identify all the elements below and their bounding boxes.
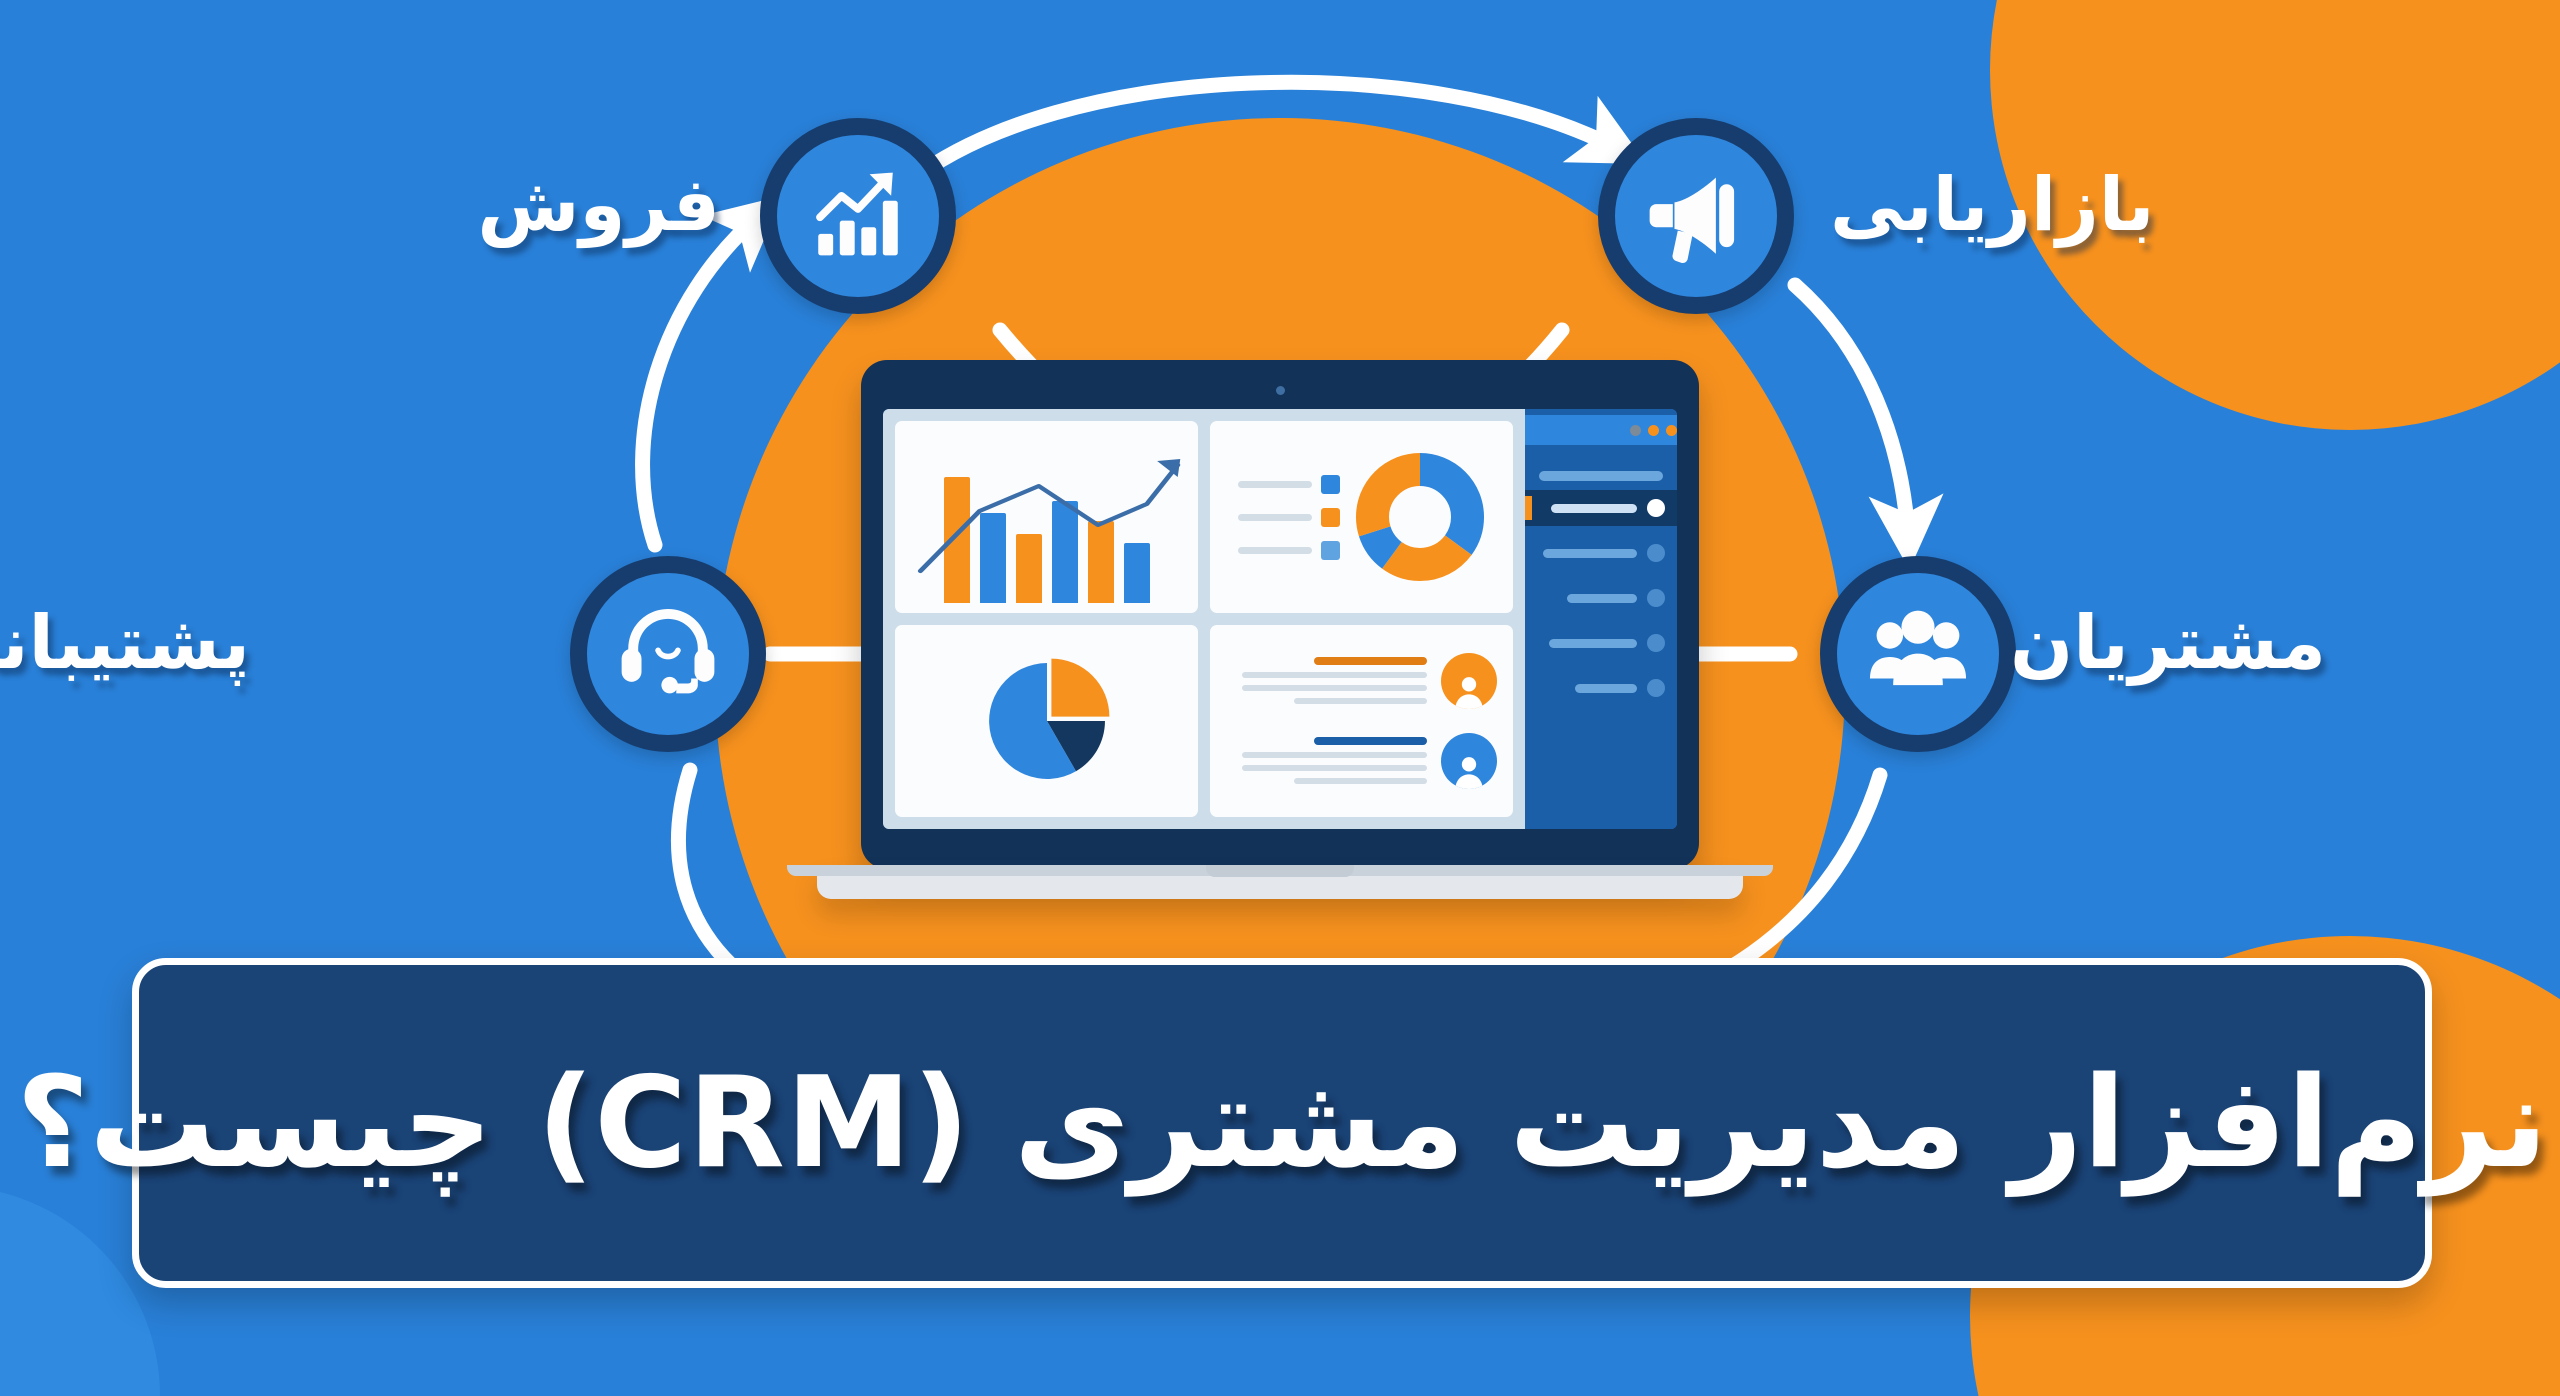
- sidebar-item-icon: [1647, 589, 1665, 607]
- contact-line: [1242, 685, 1427, 691]
- arrow-marketing-to-customers: [1795, 285, 1908, 540]
- card-pie-chart[interactable]: [895, 625, 1198, 817]
- avatar: [1441, 653, 1497, 709]
- contact-line: [1242, 752, 1427, 758]
- sidebar-item-label: [1567, 594, 1637, 603]
- badge-sales[interactable]: [760, 118, 956, 314]
- avatar: [1441, 733, 1497, 789]
- badge-support[interactable]: [570, 556, 766, 752]
- sidebar-item-deals[interactable]: [1525, 580, 1677, 616]
- contact-name: [1314, 657, 1427, 665]
- bar-2: [1088, 521, 1114, 604]
- label-customers: مشتریان: [2010, 606, 2326, 680]
- sidebar-item-label: [1551, 504, 1637, 513]
- sidebar-item-settings[interactable]: [1525, 670, 1677, 706]
- contact-line: [1294, 698, 1427, 704]
- legend-swatch: [1321, 541, 1340, 560]
- bar-3: [1052, 501, 1078, 603]
- infographic-canvas: فروش بازاریابی مشتریان پشتیبانی: [0, 0, 2560, 1396]
- pie-chart: [978, 652, 1116, 790]
- dashboard-sidebar: [1525, 409, 1677, 829]
- laptop-base: [817, 865, 1743, 899]
- sidebar-header-placeholder: [1539, 471, 1663, 481]
- card-contact-list[interactable]: [1210, 625, 1513, 817]
- window-titlebar: [1525, 415, 1677, 445]
- legend-swatch: [1321, 475, 1340, 494]
- legend-label: [1238, 514, 1312, 521]
- window-dot-2[interactable]: [1648, 425, 1659, 436]
- label-support: پشتیبانی: [0, 606, 250, 680]
- contact-line: [1242, 672, 1427, 678]
- contact-details: [1226, 653, 1427, 704]
- label-marketing: بازاریابی: [1830, 168, 2154, 242]
- badge-customers[interactable]: [1820, 556, 2016, 752]
- title-banner: نرم‌افزار مدیریت مشتری (CRM) چیست؟: [132, 958, 2432, 1288]
- legend-swatch: [1321, 508, 1340, 527]
- window-dot-1[interactable]: [1666, 425, 1677, 436]
- sidebar-item-icon: [1647, 499, 1665, 517]
- arrow-sales-to-marketing: [905, 82, 1620, 185]
- laptop-base-lip: [787, 865, 1773, 876]
- bar-5: [980, 513, 1006, 603]
- sidebar-item-label: [1575, 684, 1637, 693]
- label-sales: فروش: [477, 168, 720, 242]
- sidebar-item-icon: [1647, 544, 1665, 562]
- legend-item: [1238, 508, 1340, 527]
- people-group-icon: [1865, 599, 1971, 709]
- contact-details: [1226, 733, 1427, 784]
- window-dot-3[interactable]: [1630, 425, 1641, 436]
- sidebar-item-icon: [1647, 634, 1665, 652]
- sidebar-item-contacts[interactable]: [1525, 535, 1677, 571]
- contact-line: [1294, 778, 1427, 784]
- page-title: نرم‌افزار مدیریت مشتری (CRM) چیست؟: [16, 1060, 2548, 1186]
- laptop-screen: [883, 409, 1677, 829]
- badge-marketing[interactable]: [1598, 118, 1794, 314]
- contact-line: [1242, 765, 1427, 771]
- sidebar-item-label: [1549, 639, 1637, 648]
- sidebar-item-dashboard[interactable]: [1525, 490, 1677, 526]
- megaphone-icon: [1643, 161, 1749, 271]
- bar-chart: [905, 453, 1188, 603]
- webcam-dot-icon: [1276, 386, 1285, 395]
- card-donut-chart[interactable]: [1210, 421, 1513, 613]
- laptop-lid: [861, 360, 1699, 869]
- bar-6: [944, 477, 970, 603]
- sidebar-item-icon: [1647, 679, 1665, 697]
- legend-label: [1238, 547, 1312, 554]
- sidebar-item-label: [1543, 549, 1637, 558]
- donut-legend: [1238, 475, 1340, 560]
- list-item[interactable]: [1226, 653, 1497, 709]
- sidebar-item-reports[interactable]: [1525, 625, 1677, 661]
- donut-chart: [1354, 451, 1486, 583]
- bar-1: [1124, 543, 1150, 603]
- legend-item: [1238, 475, 1340, 494]
- list-item[interactable]: [1226, 733, 1497, 789]
- laptop-illustration: [861, 360, 1699, 899]
- growth-bar-chart-icon: [805, 161, 911, 271]
- arrow-support-to-sales: [643, 215, 760, 545]
- headset-support-icon: [615, 599, 721, 709]
- user-icon: [1449, 751, 1489, 789]
- card-bar-chart[interactable]: [895, 421, 1198, 613]
- dashboard-content: [883, 409, 1525, 829]
- bar-4: [1016, 534, 1042, 603]
- legend-label: [1238, 481, 1312, 488]
- legend-item: [1238, 541, 1340, 560]
- contact-name: [1314, 737, 1427, 745]
- user-icon: [1449, 671, 1489, 709]
